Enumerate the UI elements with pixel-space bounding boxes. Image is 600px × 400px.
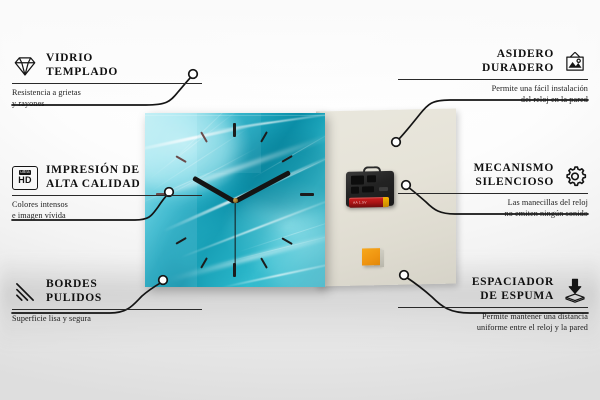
battery-label: AA 1.5V [353, 200, 367, 204]
divider [12, 83, 202, 84]
feature-mecanismo-silencioso[interactable]: MECANISMO SILENCIOSO Las manecillas del … [398, 162, 588, 219]
movement-slot [362, 186, 374, 192]
clock-movement: AA 1.5V [346, 166, 394, 207]
feature-header: ultra HD IMPRESIÓN DE ALTA CALIDAD [12, 164, 202, 191]
movement-slot [351, 175, 364, 184]
foam-spacer-side [380, 250, 384, 267]
feature-description: Permite mantener una distancia uniforme … [398, 312, 588, 333]
clock-center-hub [233, 198, 238, 203]
movement-label [379, 187, 388, 191]
hour-marker [300, 193, 314, 196]
feature-header: BORDES PULIDOS [12, 278, 202, 305]
feature-header: VIDRIO TEMPLADO [12, 52, 202, 79]
feature-header: ASIDERO DURADERO [398, 48, 588, 75]
feature-header: MECANISMO SILENCIOSO [398, 162, 588, 189]
divider [398, 193, 588, 194]
movement-body: AA 1.5V [346, 171, 394, 207]
divider [12, 309, 202, 310]
feature-description: Las manecillas del reloj no emiten ningú… [398, 198, 588, 219]
diamond-icon [12, 53, 38, 79]
clock-battery: AA 1.5V [349, 197, 389, 208]
divider [12, 195, 202, 196]
feature-title: VIDRIO TEMPLADO [46, 52, 118, 79]
feature-espaciador-de-espuma[interactable]: ESPACIADOR DE ESPUMA Permite mantener un… [398, 276, 588, 333]
polished-edges-icon [12, 279, 38, 305]
movement-slot [367, 175, 376, 182]
feature-description: Permite una fácil instalación del reloj … [398, 84, 588, 105]
feature-vidrio-templado[interactable]: VIDRIO TEMPLADO Resistencia a grietas y … [12, 52, 202, 109]
ultra-hd-main-label: HD [18, 176, 32, 185]
foam-spacer-piece [362, 248, 380, 265]
foam-spacer-icon [562, 277, 588, 303]
second-hand [234, 200, 235, 266]
feature-impresion-alta-calidad[interactable]: ultra HD IMPRESIÓN DE ALTA CALIDAD Color… [12, 164, 202, 221]
feature-title: ESPACIADOR DE ESPUMA [472, 276, 554, 303]
feature-title: BORDES PULIDOS [46, 278, 102, 305]
feature-description: Resistencia a grietas y rayones [12, 88, 202, 109]
feature-bordes-pulidos[interactable]: BORDES PULIDOS Superficie lisa y segura [12, 278, 202, 325]
feature-description: Colores intensos e imagen vívida [12, 200, 202, 221]
feature-description: Superficie lisa y segura [12, 314, 202, 325]
hanging-frame-icon [562, 49, 588, 75]
divider [398, 79, 588, 80]
battery-positive-cap [383, 197, 389, 207]
divider [398, 307, 588, 308]
feature-title: IMPRESIÓN DE ALTA CALIDAD [46, 164, 140, 191]
infographic-stage: AA 1.5V [0, 0, 600, 400]
hour-marker [233, 123, 236, 137]
feature-header: ESPACIADOR DE ESPUMA [398, 276, 588, 303]
feature-asidero-duradero[interactable]: ASIDERO DURADERO Permite una fácil insta… [398, 48, 588, 105]
feature-title: MECANISMO SILENCIOSO [474, 162, 554, 189]
feature-title: ASIDERO DURADERO [482, 48, 554, 75]
gear-icon [562, 163, 588, 189]
ultra-hd-icon: ultra HD [12, 166, 38, 190]
movement-slot [351, 187, 359, 194]
